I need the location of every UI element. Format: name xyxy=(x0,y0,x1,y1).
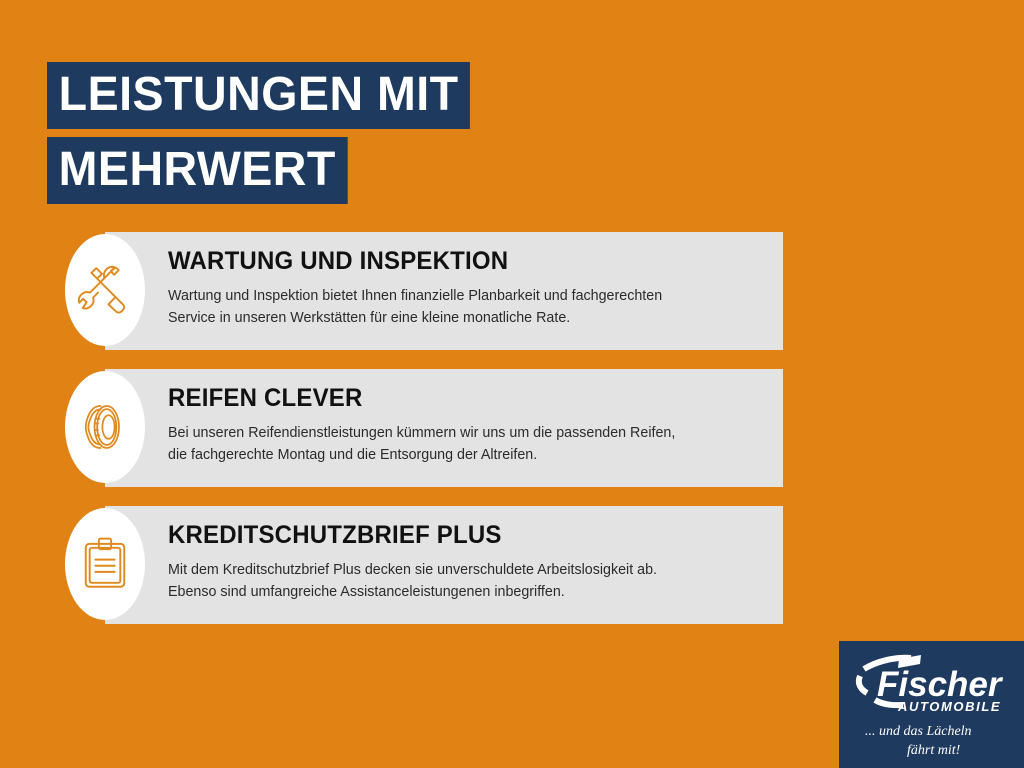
logo-tagline-line-2: fährt mit! xyxy=(907,743,961,758)
list-item[interactable]: WARTUNG UND INSPEKTION Wartung und Inspe… xyxy=(0,232,1024,350)
company-logo[interactable]: Fischer AUTOMOBILE ... und das Lächeln f… xyxy=(839,641,1024,768)
wrench-screwdriver-icon xyxy=(65,234,145,346)
headline-line-1: LEISTUNGEN MIT xyxy=(47,62,470,129)
headline-line-2: MEHRWERT xyxy=(47,137,347,204)
service-card-list: WARTUNG UND INSPEKTION Wartung und Inspe… xyxy=(0,232,1024,643)
card-description: Wartung und Inspektion bietet Ihnen fina… xyxy=(168,285,759,330)
logo-subtitle-text: AUTOMOBILE xyxy=(897,699,1001,714)
clipboard-icon xyxy=(65,508,145,620)
card-title: WARTUNG UND INSPEKTION xyxy=(168,248,744,276)
tire-icon xyxy=(65,371,145,483)
card-text-block: REIFEN CLEVER Bei unseren Reifendienstle… xyxy=(168,385,768,466)
card-description-line: Ebenso sind umfangreiche Assistanceleist… xyxy=(168,581,759,603)
card-text-block: WARTUNG UND INSPEKTION Wartung und Inspe… xyxy=(168,248,768,329)
card-title: KREDITSCHUTZBRIEF PLUS xyxy=(168,522,744,550)
page-title: LEISTUNGEN MIT MEHRWERT xyxy=(47,62,483,204)
card-title: REIFEN CLEVER xyxy=(168,385,744,413)
card-description-line: Wartung und Inspektion bietet Ihnen fina… xyxy=(168,285,759,307)
card-description: Bei unseren Reifendienstleistungen kümme… xyxy=(168,422,759,467)
card-description-line: Service in unseren Werkstätten für eine … xyxy=(168,307,759,329)
fischer-automobile-logo-mark: Fischer AUTOMOBILE xyxy=(851,649,1021,715)
poster-root: LEISTUNGEN MIT MEHRWERT xyxy=(0,0,1024,768)
list-item[interactable]: REIFEN CLEVER Bei unseren Reifendienstle… xyxy=(0,369,1024,487)
logo-tagline: ... und das Lächeln fährt mit! xyxy=(863,715,1013,761)
card-description-line: die fachgerechte Montag und die Entsorgu… xyxy=(168,444,759,466)
card-description-line: Mit dem Kreditschutzbrief Plus decken si… xyxy=(168,559,759,581)
list-item[interactable]: KREDITSCHUTZBRIEF PLUS Mit dem Kreditsch… xyxy=(0,506,1024,624)
card-text-block: KREDITSCHUTZBRIEF PLUS Mit dem Kreditsch… xyxy=(168,522,768,603)
card-description-line: Bei unseren Reifendienstleistungen kümme… xyxy=(168,422,759,444)
logo-tagline-line-1: ... und das Lächeln xyxy=(865,724,972,739)
card-description: Mit dem Kreditschutzbrief Plus decken si… xyxy=(168,559,759,604)
